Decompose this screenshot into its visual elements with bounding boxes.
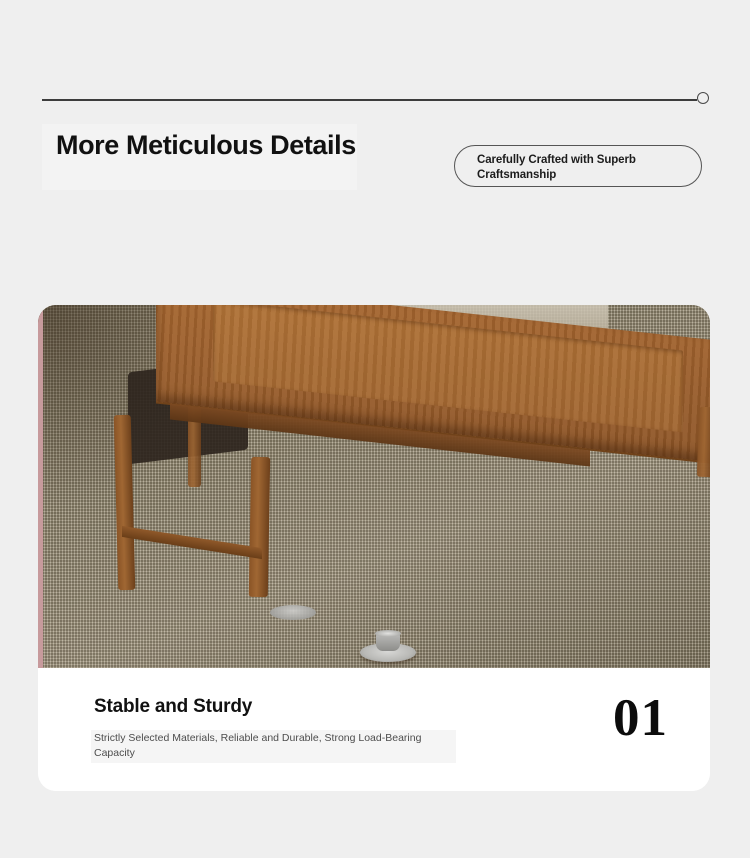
feature-photo <box>38 305 710 668</box>
section-divider <box>42 92 709 108</box>
circle-outline-icon <box>697 92 709 104</box>
teacup-rim <box>375 630 401 637</box>
photo-accent-strip <box>38 305 43 668</box>
divider-line <box>42 99 697 101</box>
bowl <box>270 605 316 620</box>
craftsmanship-badge-label: Carefully Crafted with Superb Craftsmans… <box>477 153 689 183</box>
feature-number: 01 <box>613 692 668 745</box>
table-leg-front-right <box>249 457 270 597</box>
feature-subtitle: Strictly Selected Materials, Reliable an… <box>94 731 424 761</box>
feature-title: Stable and Sturdy <box>94 696 252 718</box>
feature-card: Stable and Sturdy Strictly Selected Mate… <box>38 305 710 791</box>
craftsmanship-badge: Carefully Crafted with Superb Craftsmans… <box>454 145 702 187</box>
feature-card-footer: Stable and Sturdy Strictly Selected Mate… <box>38 668 710 791</box>
page-title: More Meticulous Details <box>56 130 386 160</box>
table-leg-right-rear <box>697 407 710 478</box>
